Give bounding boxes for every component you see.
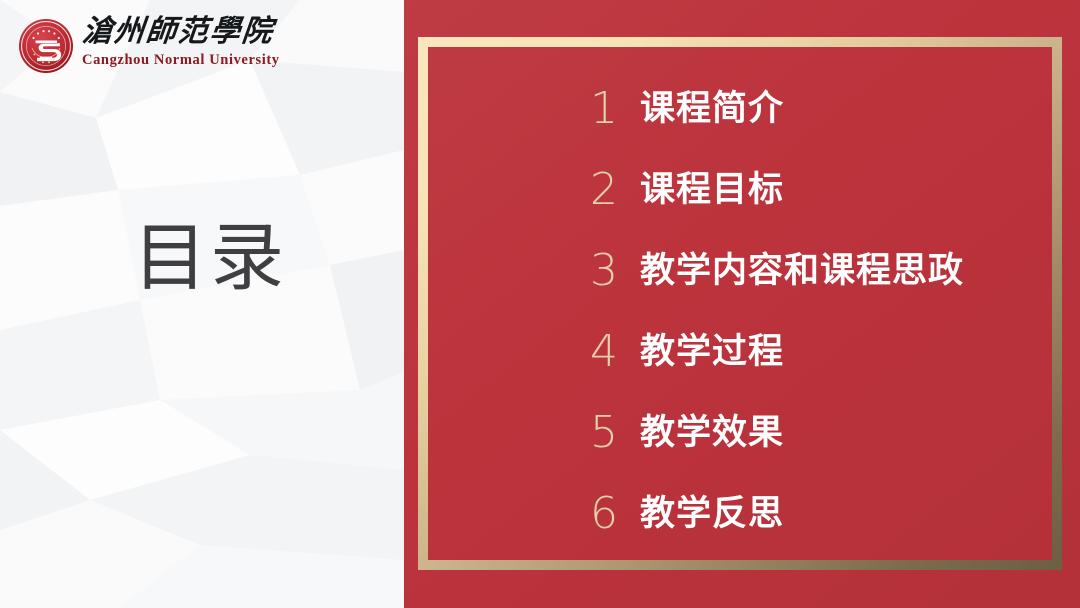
toc-item-1[interactable]: 1 课程简介 [590,83,784,135]
table-of-contents: 1 课程简介 2 课程目标 3 教学内容和课程思政 4 教学过程 5 教学效果 … [418,37,1062,570]
toc-label: 教学内容和课程思政 [640,245,964,297]
toc-label: 教学反思 [640,488,784,540]
low-poly-background [0,0,404,608]
university-name-block: 滄州師范學院 Cangzhou Normal University [82,14,274,76]
toc-number: 2 [590,164,634,216]
toc-label: 课程目标 [640,164,784,216]
toc-number: 6 [590,488,634,540]
toc-item-6[interactable]: 6 教学反思 [590,488,784,540]
toc-item-5[interactable]: 5 教学效果 [590,407,784,459]
university-seal-icon [18,18,74,74]
toc-number: 5 [590,407,634,459]
left-panel: 滄州師范學院 Cangzhou Normal University 目录 [0,0,404,608]
presentation-slide: 滄州師范學院 Cangzhou Normal University 目录 1 课… [0,0,1080,608]
toc-item-4[interactable]: 4 教学过程 [590,326,784,378]
toc-number: 1 [590,83,634,135]
toc-label: 教学效果 [640,407,784,459]
toc-label: 教学过程 [640,326,784,378]
page-title: 目录 [0,216,404,300]
toc-number: 4 [590,326,634,378]
toc-item-2[interactable]: 2 课程目标 [590,164,784,216]
toc-number: 3 [590,245,634,297]
toc-label: 课程简介 [640,83,784,135]
university-name-en: Cangzhou Normal University [82,52,280,69]
university-logo: 滄州師范學院 Cangzhou Normal University [16,14,276,76]
toc-item-3[interactable]: 3 教学内容和课程思政 [590,245,964,297]
university-name-cn: 滄州師范學院 [80,13,276,51]
